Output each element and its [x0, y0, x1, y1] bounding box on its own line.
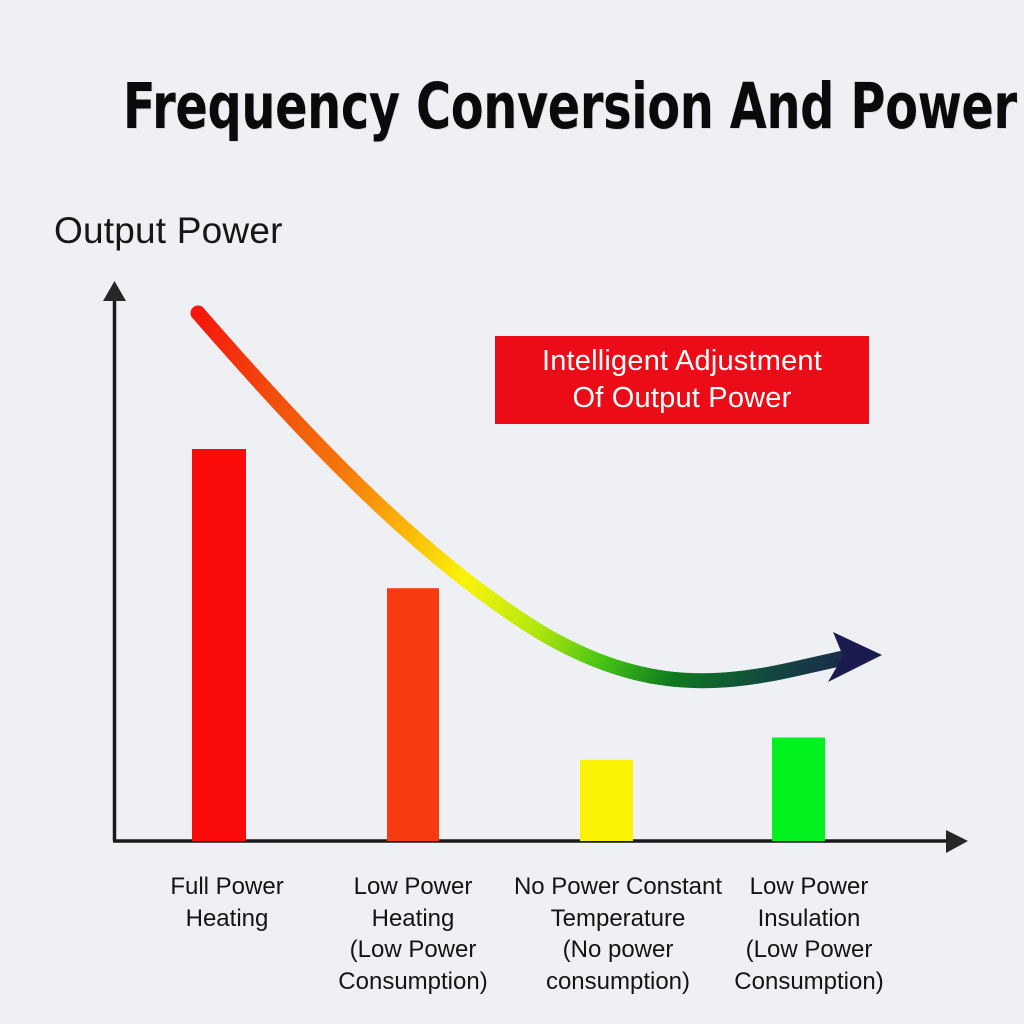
bar-full-power-heating: [192, 449, 246, 841]
infographic-canvas: Frequency Conversion And Power Saving Ou…: [0, 0, 1024, 1024]
callout-banner: Intelligent Adjustment Of Output Power: [495, 336, 869, 424]
x-axis-category-label: Low Power Insulation (Low Power Consumpt…: [716, 871, 902, 997]
bar-low-power-heating: [387, 588, 439, 841]
bar-no-power-constant-temperature: [580, 760, 633, 841]
y-axis-arrow-icon: [103, 281, 126, 301]
x-axis-category-label: No Power Constant Temperature (No power …: [512, 871, 724, 997]
x-axis-arrow-icon: [946, 830, 968, 853]
x-axis-category-label: Low Power Heating (Low Power Consumption…: [318, 871, 508, 997]
callout-line-2: Of Output Power: [573, 380, 792, 417]
bar-low-power-insulation: [772, 738, 825, 842]
x-axis-category-label: Full Power Heating: [131, 871, 323, 934]
callout-line-1: Intelligent Adjustment: [542, 343, 822, 380]
